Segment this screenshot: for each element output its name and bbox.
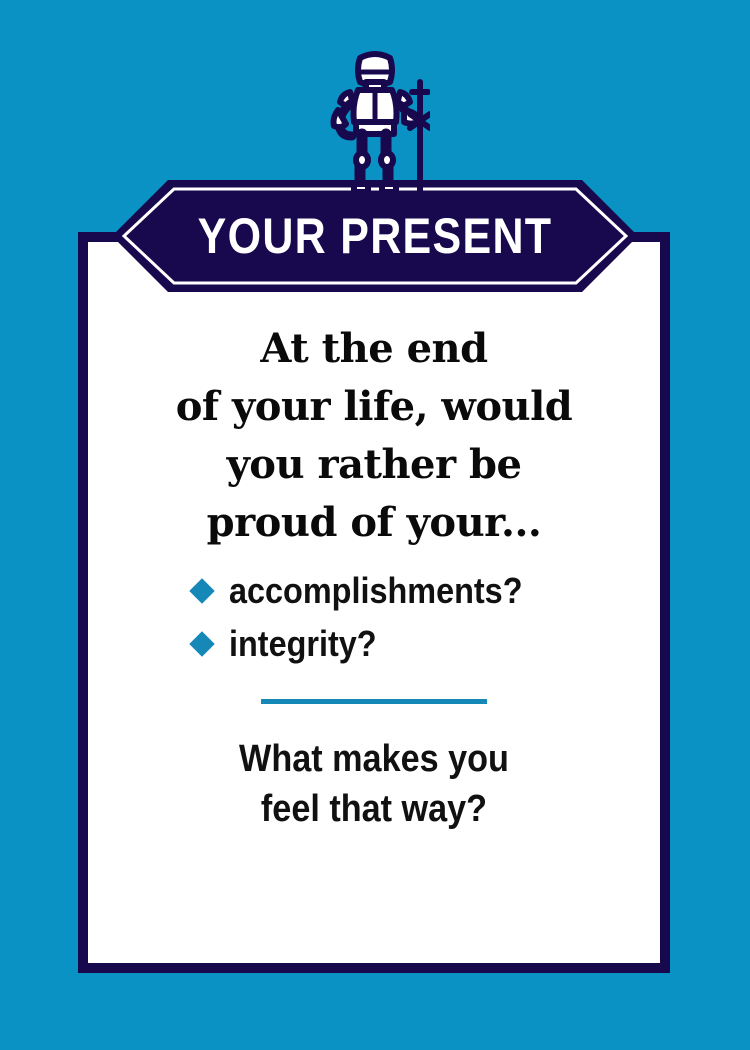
card-content: At the end of your life, would you rathe… [88, 242, 660, 963]
poster-card: At the end of your life, would you rathe… [0, 0, 750, 1050]
content-card: At the end of your life, would you rathe… [78, 232, 670, 973]
bullet-label: integrity? [229, 623, 377, 664]
footer-question: What makes you feel that way? [153, 734, 596, 834]
list-item[interactable]: integrity? [193, 623, 555, 664]
knight-icon [0, 48, 750, 198]
banner-title: YOUR PRESENT [149, 180, 601, 292]
bullet-label: accomplishments? [229, 570, 522, 611]
banner: YOUR PRESENT [112, 180, 638, 292]
section-divider [261, 699, 487, 704]
page-title: At the end of your life, would you rathe… [128, 320, 620, 552]
headline-line-2: of your life, would [128, 378, 620, 436]
diamond-bullet-icon [189, 578, 214, 603]
footer-line-1: What makes you [153, 734, 596, 784]
headline-line-3: you rather be [128, 436, 620, 494]
divider-wrap [128, 699, 620, 704]
footer-line-2: feel that way? [153, 784, 596, 834]
diamond-bullet-icon [189, 631, 214, 656]
headline-line-4: proud of your... [128, 494, 620, 552]
options-list: accomplishments? integrity? [193, 570, 555, 677]
list-item[interactable]: accomplishments? [193, 570, 555, 611]
headline-line-1: At the end [128, 320, 620, 378]
